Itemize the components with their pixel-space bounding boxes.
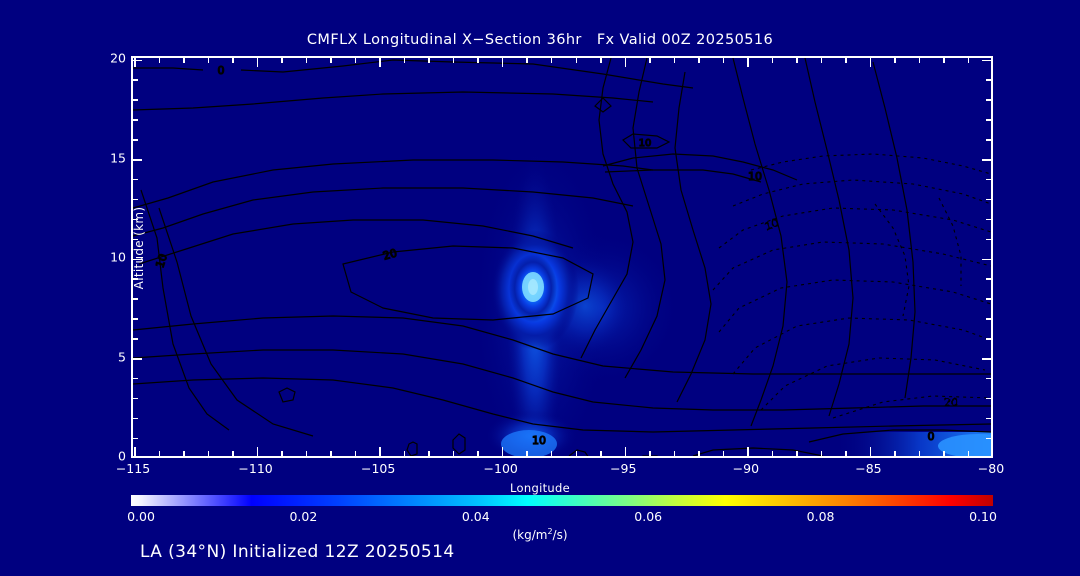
svg-text:0: 0 [928,430,935,443]
y-minor-tick-right [986,338,991,340]
x-minor-tick [674,451,676,456]
colorbar-tick-label: 0.06 [608,509,688,524]
x-minor-tick [845,451,847,456]
x-minor-tick-top [723,58,725,63]
x-minor-tick-top [428,58,430,63]
x-major-tick-top [379,58,381,67]
x-minor-tick [919,451,921,456]
colorbar-tick-label: 0.02 [263,509,343,524]
y-minor-tick [133,99,138,101]
x-minor-tick-top [306,58,308,63]
y-minor-tick-right [986,318,991,320]
x-tick-label: −105 [343,461,413,476]
x-minor-tick-top [894,58,896,63]
svg-text:10: 10 [532,434,546,447]
page-title: CMFLX Longitudinal X−Section 36hr Fx Val… [0,32,1080,48]
x-major-tick-top [134,58,136,67]
y-minor-tick [133,438,138,440]
x-minor-tick [894,451,896,456]
x-minor-tick-top [208,58,210,63]
x-minor-tick [453,451,455,456]
colorbar-tick-label: 0.04 [436,509,516,524]
y-minor-tick-right [986,398,991,400]
x-tick-label: −80 [956,461,1026,476]
x-major-tick [502,447,504,456]
x-major-tick-top [625,58,627,67]
plot-canvas: 0 20 10 10 [133,58,991,456]
y-minor-tick-right [986,239,991,241]
y-minor-tick [133,378,138,380]
y-tick-label: 10 [92,250,126,265]
y-minor-tick [133,338,138,340]
x-minor-tick-top [919,58,921,63]
x-minor-tick [183,451,185,456]
y-major-tick-right [982,60,991,62]
x-minor-tick [821,451,823,456]
svg-text:10: 10 [748,170,762,183]
x-minor-tick [723,451,725,456]
y-minor-tick [133,219,138,221]
x-minor-tick [772,451,774,456]
y-minor-tick [133,139,138,141]
x-minor-tick [576,451,578,456]
x-major-tick [134,447,136,456]
x-major-tick [625,447,627,456]
y-major-tick-right [982,259,991,261]
x-minor-tick [404,451,406,456]
y-major-tick-right [982,358,991,360]
colorbar-tick-label: 0.00 [101,509,181,524]
x-minor-tick-top [159,58,161,63]
x-axis-title: Longitude [0,481,1080,495]
y-minor-tick-right [986,438,991,440]
x-minor-tick [330,451,332,456]
y-axis: Altitude (km) 05101520 [88,56,126,458]
x-minor-tick-top [576,58,578,63]
x-minor-tick [796,451,798,456]
x-minor-tick-top [600,58,602,63]
colorbar [131,495,993,506]
x-major-tick-top [870,58,872,67]
y-minor-tick-right [986,378,991,380]
y-tick-label: 5 [92,349,126,364]
x-minor-tick [232,451,234,456]
x-tick-label: −95 [588,461,658,476]
x-major-tick [257,447,259,456]
y-minor-tick-right [986,99,991,101]
y-tick-label: 15 [92,150,126,165]
y-major-tick [133,358,142,360]
footer-caption: LA (34°N) Initialized 12Z 20250514 [140,542,455,562]
y-minor-tick [133,398,138,400]
x-major-tick-top [257,58,259,67]
x-major-tick [992,447,993,456]
colorbar-units-prefix: (kg/m [512,528,547,542]
plot-area: 0 20 10 10 [131,56,993,458]
x-minor-tick [698,451,700,456]
y-minor-tick-right [986,298,991,300]
x-minor-tick [943,451,945,456]
x-minor-tick-top [404,58,406,63]
colorbar-units: (kg/m2/s) [0,527,1080,542]
x-minor-tick-top [845,58,847,63]
y-minor-tick [133,239,138,241]
x-minor-tick-top [772,58,774,63]
y-minor-tick [133,318,138,320]
y-major-tick-right [982,458,991,459]
y-minor-tick-right [986,79,991,81]
colorbar-ticks: 0.000.020.040.060.080.10 [131,509,993,527]
colorbar-tick-label: 0.08 [781,509,861,524]
x-tick-label: −100 [466,461,536,476]
x-minor-tick-top [453,58,455,63]
y-minor-tick [133,199,138,201]
y-minor-tick [133,79,138,81]
y-minor-tick-right [986,418,991,420]
x-minor-tick [159,451,161,456]
y-minor-tick-right [986,139,991,141]
svg-text:0: 0 [218,64,225,77]
x-minor-tick-top [551,58,553,63]
x-minor-tick [281,451,283,456]
x-minor-tick-top [943,58,945,63]
y-minor-tick-right [986,278,991,280]
svg-text:10: 10 [639,138,652,149]
x-minor-tick-top [355,58,357,63]
x-minor-tick-top [674,58,676,63]
x-axis: −115−110−105−100−95−90−85−80 [131,461,993,479]
x-major-tick-top [747,58,749,67]
colorbar-gradient [131,495,993,506]
x-minor-tick-top [183,58,185,63]
x-tick-label: −85 [833,461,903,476]
x-minor-tick-top [526,58,528,63]
y-minor-tick [133,278,138,280]
x-minor-tick [649,451,651,456]
x-minor-tick-top [968,58,970,63]
x-major-tick [379,447,381,456]
x-minor-tick [306,451,308,456]
x-tick-label: −110 [221,461,291,476]
x-tick-label: −90 [711,461,781,476]
y-minor-tick [133,418,138,420]
x-minor-tick [428,451,430,456]
y-major-tick [133,259,142,261]
x-minor-tick [208,451,210,456]
x-minor-tick-top [821,58,823,63]
y-major-tick-right [982,159,991,161]
x-minor-tick-top [649,58,651,63]
y-minor-tick-right [986,199,991,201]
y-minor-tick [133,179,138,181]
x-minor-tick-top [281,58,283,63]
x-minor-tick-top [330,58,332,63]
x-minor-tick [355,451,357,456]
x-minor-tick-top [698,58,700,63]
y-minor-tick [133,298,138,300]
x-minor-tick-top [796,58,798,63]
x-minor-tick-top [232,58,234,63]
y-major-tick [133,159,142,161]
x-major-tick-top [992,58,993,67]
y-major-tick [133,458,142,459]
colorbar-units-suffix: /s) [553,528,568,542]
y-minor-tick [133,119,138,121]
colorbar-tick-label: 0.10 [943,509,1023,524]
x-major-tick [870,447,872,456]
x-minor-tick [551,451,553,456]
x-minor-tick [526,451,528,456]
x-major-tick [747,447,749,456]
x-minor-tick [600,451,602,456]
x-tick-label: −115 [98,461,168,476]
y-minor-tick-right [986,219,991,221]
x-minor-tick [968,451,970,456]
svg-text:20: 20 [944,396,958,409]
y-tick-label: 20 [92,51,126,66]
y-minor-tick-right [986,179,991,181]
x-major-tick-top [502,58,504,67]
x-minor-tick-top [477,58,479,63]
x-minor-tick [477,451,479,456]
y-minor-tick-right [986,119,991,121]
